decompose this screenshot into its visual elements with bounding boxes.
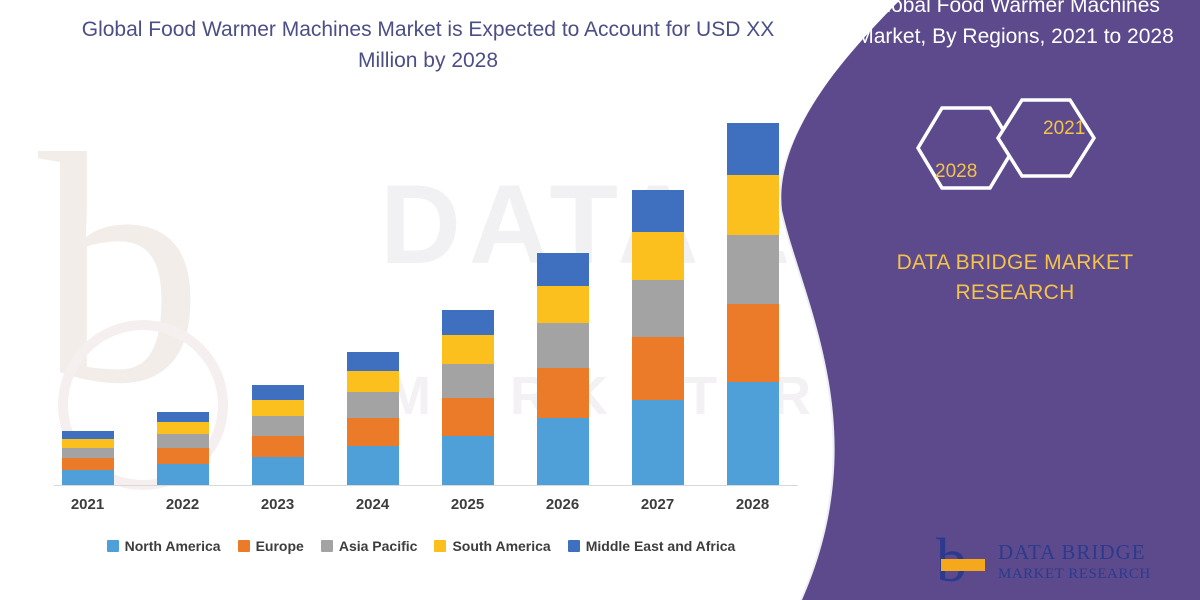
bar-segment bbox=[252, 400, 304, 416]
x-axis-tick-label: 2028 bbox=[727, 496, 779, 513]
bar-segment bbox=[442, 364, 494, 398]
bar-segment bbox=[537, 323, 589, 368]
legend-label: North America bbox=[125, 538, 221, 554]
legend-item[interactable]: Europe bbox=[238, 538, 304, 554]
bar-segment bbox=[252, 416, 304, 435]
legend-item[interactable]: Asia Pacific bbox=[321, 538, 418, 554]
legend-swatch-icon bbox=[321, 540, 333, 552]
bar-segment bbox=[442, 335, 494, 363]
x-axis-tick-label: 2023 bbox=[252, 496, 304, 513]
bar-segment bbox=[347, 392, 399, 417]
bar-segment bbox=[442, 436, 494, 485]
bar-segment bbox=[347, 352, 399, 371]
logo-accent-bar bbox=[941, 559, 985, 571]
bar-segment bbox=[537, 286, 589, 323]
bar-segment bbox=[157, 412, 209, 422]
bar-segment bbox=[347, 371, 399, 392]
legend-label: Europe bbox=[256, 538, 304, 554]
x-axis-tick-label: 2027 bbox=[632, 496, 684, 513]
legend-item[interactable]: North America bbox=[107, 538, 221, 554]
chart-title: Global Food Warmer Machines Market is Ex… bbox=[78, 14, 778, 76]
bar-segment bbox=[157, 434, 209, 447]
bar-column bbox=[632, 96, 684, 485]
x-axis-tick-label: 2025 bbox=[442, 496, 494, 513]
x-axis-tick-label: 2024 bbox=[347, 496, 399, 513]
legend-item[interactable]: Middle East and Africa bbox=[568, 538, 736, 554]
bar-column bbox=[157, 96, 209, 485]
panel-brand: DATA BRIDGE MARKET RESEARCH bbox=[835, 248, 1195, 308]
x-axis-tick-label: 2021 bbox=[62, 496, 114, 513]
bar-segment bbox=[347, 446, 399, 485]
bar-segment bbox=[537, 418, 589, 485]
bar-segment bbox=[727, 235, 779, 304]
legend-swatch-icon bbox=[568, 540, 580, 552]
bar-column bbox=[347, 96, 399, 485]
x-axis-line bbox=[54, 485, 798, 486]
info-panel: Global Food Warmer Machines Market, By R… bbox=[780, 0, 1200, 600]
bar-column bbox=[537, 96, 589, 485]
bar-segment bbox=[727, 382, 779, 485]
bar-segment bbox=[727, 304, 779, 382]
legend-item[interactable]: South America bbox=[434, 538, 550, 554]
bar-column bbox=[442, 96, 494, 485]
legend-swatch-icon bbox=[238, 540, 250, 552]
panel-title: Global Food Warmer Machines Market, By R… bbox=[850, 0, 1180, 52]
bar-segment bbox=[252, 457, 304, 485]
x-axis-tick-label: 2026 bbox=[537, 496, 589, 513]
hexagon-badges: 2028 2021 bbox=[898, 96, 1188, 206]
chart-plot-area bbox=[40, 96, 800, 486]
bar-segment bbox=[632, 280, 684, 337]
bar-segment bbox=[632, 337, 684, 400]
chart-legend: North AmericaEuropeAsia PacificSouth Ame… bbox=[40, 538, 802, 554]
company-logo: b DATA BRIDGE MARKET RESEARCH bbox=[936, 532, 1186, 594]
legend-swatch-icon bbox=[107, 540, 119, 552]
bar-segment bbox=[62, 439, 114, 448]
hex-label-back: 2028 bbox=[935, 161, 977, 183]
bar-segment bbox=[62, 470, 114, 485]
x-axis-tick-label: 2022 bbox=[157, 496, 209, 513]
x-axis-labels: 20212022202320242025202620272028 bbox=[40, 496, 800, 513]
bar-segment bbox=[727, 175, 779, 235]
bar-segment bbox=[537, 368, 589, 417]
bar-segment bbox=[632, 190, 684, 232]
legend-label: South America bbox=[452, 538, 550, 554]
bar-segment bbox=[442, 310, 494, 335]
bar-segment bbox=[442, 398, 494, 435]
bar-segment bbox=[347, 418, 399, 446]
bar-segment bbox=[537, 253, 589, 286]
bar-column bbox=[62, 96, 114, 485]
bar-segment bbox=[62, 458, 114, 470]
bar-segment bbox=[252, 385, 304, 400]
bar-segment bbox=[632, 232, 684, 280]
bar-segment bbox=[157, 464, 209, 485]
bar-segment bbox=[252, 436, 304, 457]
bar-segment bbox=[632, 400, 684, 485]
bar-segment bbox=[157, 448, 209, 464]
hex-label-front: 2021 bbox=[1043, 118, 1085, 140]
logo-subtitle: MARKET RESEARCH bbox=[998, 566, 1151, 583]
legend-swatch-icon bbox=[434, 540, 446, 552]
bar-segment bbox=[727, 123, 779, 175]
logo-name: DATA BRIDGE bbox=[998, 540, 1146, 564]
legend-label: Asia Pacific bbox=[339, 538, 418, 554]
hexagon-icon bbox=[898, 96, 1188, 211]
legend-label: Middle East and Africa bbox=[586, 538, 736, 554]
bar-segment bbox=[62, 431, 114, 438]
bar-group bbox=[40, 96, 800, 485]
bar-column bbox=[727, 96, 779, 485]
bar-column bbox=[252, 96, 304, 485]
bar-segment bbox=[157, 422, 209, 434]
bar-segment bbox=[62, 448, 114, 458]
